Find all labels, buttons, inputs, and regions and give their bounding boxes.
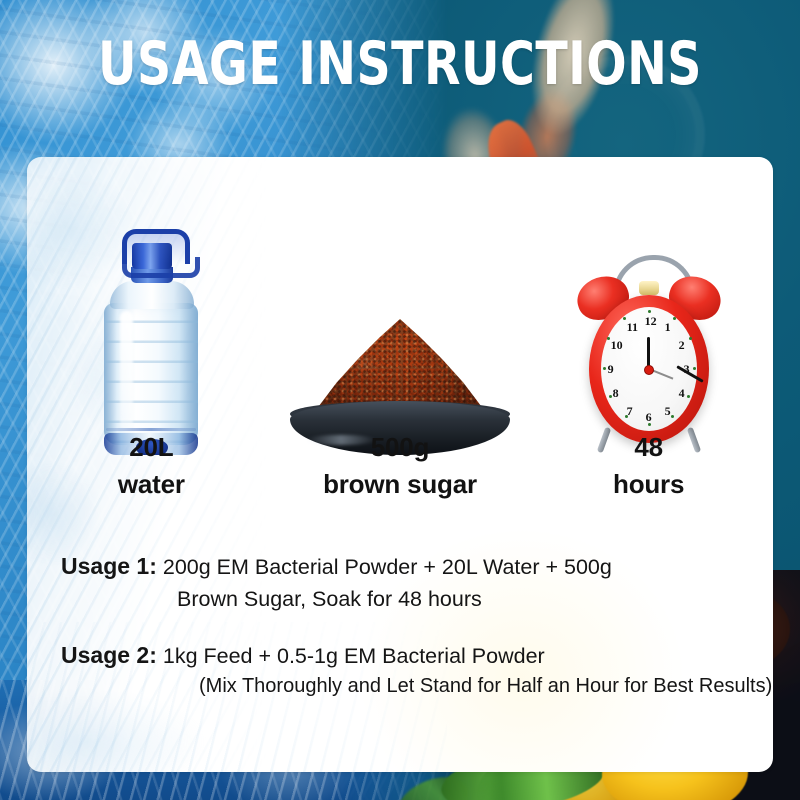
caption-water-label: water — [31, 466, 271, 503]
clock-tick-dot — [687, 395, 690, 398]
ingredient-image-row: 12 1 2 3 4 5 6 7 8 9 10 11 — [27, 185, 773, 455]
clock-number-4: 4 — [679, 387, 685, 399]
ingredient-image-brown-sugar — [280, 185, 520, 455]
clock-tick-dot — [603, 367, 606, 370]
clock-tick-dot — [673, 317, 676, 320]
clock-tick-dot — [625, 415, 628, 418]
clock-number-12: 12 — [645, 315, 657, 327]
clock-tick-dot — [671, 415, 674, 418]
usage-2-label: Usage 2: — [61, 642, 157, 668]
caption-hours-amount: 48 — [529, 429, 769, 466]
clock-tick-dot — [648, 310, 651, 313]
usage-1-line-1: Usage 1: 200g EM Bacterial Powder + 20L … — [61, 549, 751, 584]
bottle-handle — [122, 229, 190, 264]
caption-brown-sugar-amount: 500g — [280, 429, 520, 466]
usage-item-2: Usage 2: 1kg Feed + 0.5-1g EM Bacterial … — [61, 638, 751, 702]
clock-number-6: 6 — [646, 411, 652, 423]
clock-number-10: 10 — [611, 339, 623, 351]
usage-item-1: Usage 1: 200g EM Bacterial Powder + 20L … — [61, 549, 751, 616]
bottle-ribs — [104, 303, 198, 445]
bottle-shoulder — [110, 281, 194, 309]
caption-hours: 48 hours — [529, 429, 769, 503]
clock-tick-dot — [607, 337, 610, 340]
usage-1-text-1: 200g EM Bacterial Powder + 20L Water + 5… — [163, 555, 612, 579]
ingredient-image-hours: 12 1 2 3 4 5 6 7 8 9 10 11 — [529, 185, 769, 455]
caption-water-amount: 20L — [31, 429, 271, 466]
clock-number-11: 11 — [627, 321, 638, 333]
clock-center-pin — [644, 365, 654, 375]
caption-water: 20L water — [31, 429, 271, 503]
ingredient-caption-row: 20L water 500g brown sugar 48 hours — [27, 429, 773, 503]
caption-brown-sugar-label: brown sugar — [280, 466, 520, 503]
alarm-clock-icon: 12 1 2 3 4 5 6 7 8 9 10 11 — [579, 255, 719, 455]
usage-instructions-list: Usage 1: 200g EM Bacterial Powder + 20L … — [61, 549, 751, 724]
clock-tick-dot — [609, 395, 612, 398]
ingredient-image-water — [31, 185, 271, 455]
usage-1-label: Usage 1: — [61, 553, 157, 579]
clock-tick-dot — [623, 317, 626, 320]
usage-2-line-2: (Mix Thoroughly and Let Stand for Half a… — [61, 672, 751, 702]
caption-hours-label: hours — [529, 466, 769, 503]
clock-number-1: 1 — [665, 321, 671, 333]
page-title: USAGE INSTRUCTIONS — [48, 34, 752, 94]
clock-number-5: 5 — [665, 405, 671, 417]
poster-root: USAGE INSTRUCTIONS — [0, 0, 800, 800]
clock-tick-dot — [648, 423, 651, 426]
water-bottle-icon — [98, 227, 204, 455]
clock-tick-dot — [689, 337, 692, 340]
usage-2-text-1: 1kg Feed + 0.5-1g EM Bacterial Powder — [163, 644, 545, 668]
usage-1-line-2: Brown Sugar, Soak for 48 hours — [61, 584, 751, 616]
instructions-card: 12 1 2 3 4 5 6 7 8 9 10 11 — [27, 157, 773, 772]
clock-number-2: 2 — [679, 339, 685, 351]
clock-hammer-knob — [639, 281, 659, 295]
clock-tick-dot — [693, 367, 696, 370]
clock-number-8: 8 — [613, 387, 619, 399]
bottle-highlight — [120, 311, 133, 431]
caption-brown-sugar: 500g brown sugar — [280, 429, 520, 503]
clock-number-9: 9 — [608, 363, 614, 375]
usage-2-line-1: Usage 2: 1kg Feed + 0.5-1g EM Bacterial … — [61, 638, 751, 673]
